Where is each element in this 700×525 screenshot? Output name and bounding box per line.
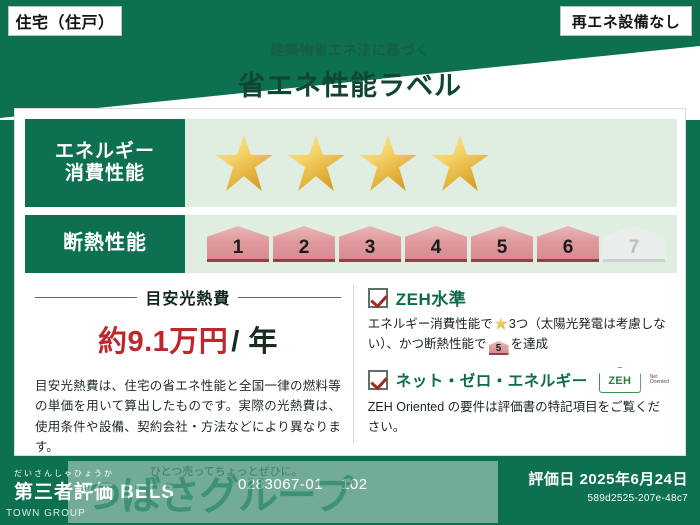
energy-label-line2: 消費性能 — [65, 163, 145, 185]
evaluation-date: 評価日 2025年6月24日 — [528, 468, 688, 489]
star-icon — [431, 135, 489, 191]
checkbox-checked-icon[interactable] — [368, 288, 388, 308]
grade-number: 2 — [299, 237, 310, 259]
evaluation-date-label: 評価日 — [528, 471, 575, 488]
zeh-sup-oriented: Oriented — [650, 379, 669, 385]
insulation-grade-badge: 4 — [405, 226, 467, 262]
grade-number: 1 — [233, 237, 244, 259]
energy-rating-area — [185, 119, 677, 207]
insulation-grade-badge: 2 — [273, 226, 335, 262]
zeh-standard-block: ZEH水準 エネルギー消費性能で3つ（太陽光発電は考慮しない）、かつ断熱性能で5… — [368, 285, 669, 355]
label-card: エネルギー 消費性能 断熱性能 1 2 3 — [14, 108, 686, 456]
grade-number: 3 — [365, 237, 376, 259]
utility-cost-unit: / 年 — [231, 326, 278, 358]
energy-performance-label: エネルギー 消費性能 — [25, 119, 185, 207]
zeh-standard-row: ZEH水準 — [368, 285, 669, 310]
zeh-panel: ZEH水準 エネルギー消費性能で3つ（太陽光発電は考慮しない）、かつ断熱性能で5… — [354, 281, 677, 447]
utility-cost-amount: 約9.1万円 — [98, 326, 228, 358]
grade-number: 7 — [629, 237, 640, 259]
utility-cost-note: 目安光熱費は、住宅の省エネ性能と全国一律の燃料等の単価を用いて算出したものです。… — [35, 376, 341, 457]
checkbox-checked-icon[interactable] — [368, 370, 388, 390]
grade-number: 6 — [563, 237, 574, 259]
star-icon — [215, 135, 273, 191]
zeh-body-post: を達成 — [511, 337, 549, 351]
zeh-standard-body: エネルギー消費性能で3つ（太陽光発電は考慮しない）、かつ断熱性能で5を達成 — [368, 314, 669, 355]
star-rating — [185, 135, 489, 191]
insulation-grade-inline-badge: 5 — [489, 341, 509, 355]
grade-number: 5 — [497, 237, 508, 259]
bels-text: だいさんしゃひょうか 第三者評価 BELS — [14, 468, 175, 503]
bels-mark: だいさんしゃひょうか 第三者評価 BELS — [14, 468, 175, 504]
star-icon-inline — [494, 317, 508, 330]
insulation-grade-badge-inactive: 7 — [603, 226, 665, 262]
bels-main-text: 第三者評価 BELS — [14, 482, 175, 503]
insulation-performance-label: 断熱性能 — [25, 215, 185, 273]
net-zero-energy-row: ネット・ゼロ・エネルギー ZEH NetOriented — [368, 367, 669, 393]
bels-ruby: だいさんしゃひょうか — [14, 468, 175, 479]
rule-right — [238, 297, 340, 298]
grade-number: 4 — [431, 237, 442, 259]
energy-performance-row: エネルギー 消費性能 — [25, 119, 677, 207]
utility-cost-panel: 目安光熱費 約9.1万円/ 年 目安光熱費は、住宅の省エネ性能と全国一律の燃料等… — [25, 281, 353, 447]
star-icon — [287, 135, 345, 191]
insulation-performance-row: 断熱性能 1 2 3 4 5 6 7 — [25, 215, 677, 273]
rule-left — [35, 297, 137, 298]
utility-cost-heading: 目安光熱費 — [35, 285, 341, 309]
certificate-id: 0283067-01102 — [238, 476, 368, 493]
insulation-grade-badge: 1 — [207, 226, 269, 262]
star-icon — [359, 135, 417, 191]
net-zero-energy-title: ネット・ゼロ・エネルギー — [396, 369, 588, 391]
insulation-rating-area: 1 2 3 4 5 6 7 — [185, 215, 677, 273]
tag-dwelling-type: 住宅（住戸） — [8, 6, 122, 36]
evaluation-date-value: 2025年6月24日 — [580, 471, 688, 488]
zeh-body-pre: エネルギー消費性能で — [368, 317, 493, 331]
zeh-logo-icon: ZEH — [599, 367, 641, 393]
net-zero-energy-block: ネット・ゼロ・エネルギー ZEH NetOriented ZEH Oriente… — [368, 367, 669, 437]
insulation-label-text: 断熱性能 — [63, 232, 147, 256]
evaluation-info: 評価日 2025年6月24日 589d2525-207e-48c7 — [528, 468, 688, 504]
zeh-logo-text: ZEH — [599, 375, 641, 387]
insulation-grade-badge: 5 — [471, 226, 533, 262]
energy-label-root: 住宅（住戸） 再エネ設備なし 建築物省エネ法に基づく 省エネ性能ラベル エネルギ… — [0, 0, 700, 525]
evaluation-uid: 589d2525-207e-48c7 — [528, 493, 688, 504]
grade-number: 5 — [496, 343, 502, 354]
certificate-id-suffix: 102 — [341, 476, 368, 493]
zeh-standard-title: ZEH水準 — [396, 285, 467, 310]
insulation-grade-badge: 6 — [537, 226, 599, 262]
certificate-id-number: 0283067-01 — [238, 476, 323, 493]
utility-cost-title: 目安光熱費 — [145, 285, 230, 309]
label-footer: だいさんしゃひょうか 第三者評価 BELS 0283067-01102 評価日 … — [0, 456, 700, 525]
energy-label-line1: エネルギー — [55, 141, 155, 163]
label-lower-section: 目安光熱費 約9.1万円/ 年 目安光熱費は、住宅の省エネ性能と全国一律の燃料等… — [25, 281, 677, 447]
zeh-logo-superscript: NetOriented — [650, 375, 669, 386]
insulation-grade-badge: 3 — [339, 226, 401, 262]
net-zero-energy-body: ZEH Oriented の要件は評価書の特記項目をご覧ください。 — [368, 397, 669, 437]
insulation-grade-scale: 1 2 3 4 5 6 7 — [185, 226, 665, 262]
utility-cost-value: 約9.1万円/ 年 — [35, 318, 341, 360]
tag-renewable-equipment: 再エネ設備なし — [560, 6, 692, 36]
